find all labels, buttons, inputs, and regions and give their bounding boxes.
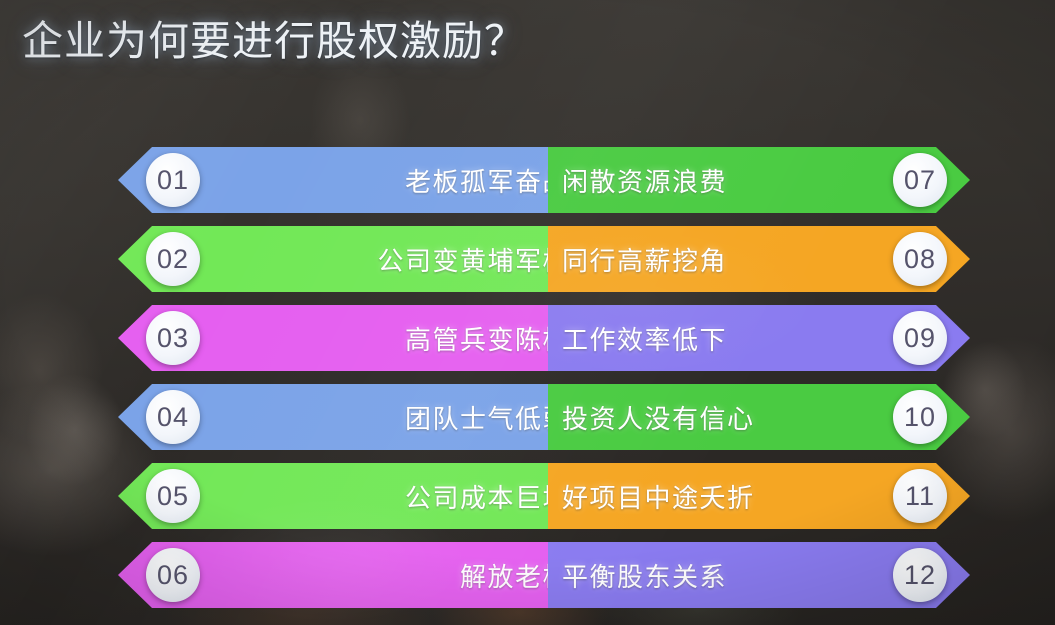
arrow-row: 解放老板06平衡股东关系12 xyxy=(0,542,1055,608)
number-badge-10: 10 xyxy=(893,390,947,444)
number-badge-12: 12 xyxy=(893,548,947,602)
arrow-label-08: 同行高薪挖角 xyxy=(548,241,727,278)
number-badge-01: 01 xyxy=(146,153,200,207)
number-badge-07: 07 xyxy=(893,153,947,207)
number-badge-06: 06 xyxy=(146,548,200,602)
arrow-list-chart: 老板孤军奋战01闲散资源浪费07公司变黄埔军校02同行高薪挖角08高管兵变陈桥0… xyxy=(0,0,1055,625)
number-badge-04: 04 xyxy=(146,390,200,444)
arrow-row: 公司变黄埔军校02同行高薪挖角08 xyxy=(0,226,1055,292)
arrow-row: 高管兵变陈桥03工作效率低下09 xyxy=(0,305,1055,371)
arrow-label-12: 平衡股东关系 xyxy=(548,557,727,594)
arrow-label-11: 好项目中途夭折 xyxy=(548,478,755,515)
number-badge-02: 02 xyxy=(146,232,200,286)
arrow-label-09: 工作效率低下 xyxy=(548,320,727,357)
number-badge-09: 09 xyxy=(893,311,947,365)
number-badge-08: 08 xyxy=(893,232,947,286)
arrow-row: 公司成本巨增05好项目中途夭折11 xyxy=(0,463,1055,529)
number-badge-03: 03 xyxy=(146,311,200,365)
number-badge-05: 05 xyxy=(146,469,200,523)
arrow-row: 团队士气低弱04投资人没有信心10 xyxy=(0,384,1055,450)
arrow-row: 老板孤军奋战01闲散资源浪费07 xyxy=(0,147,1055,213)
number-badge-11: 11 xyxy=(893,469,947,523)
arrow-label-10: 投资人没有信心 xyxy=(548,399,755,436)
arrow-label-07: 闲散资源浪费 xyxy=(548,162,727,199)
